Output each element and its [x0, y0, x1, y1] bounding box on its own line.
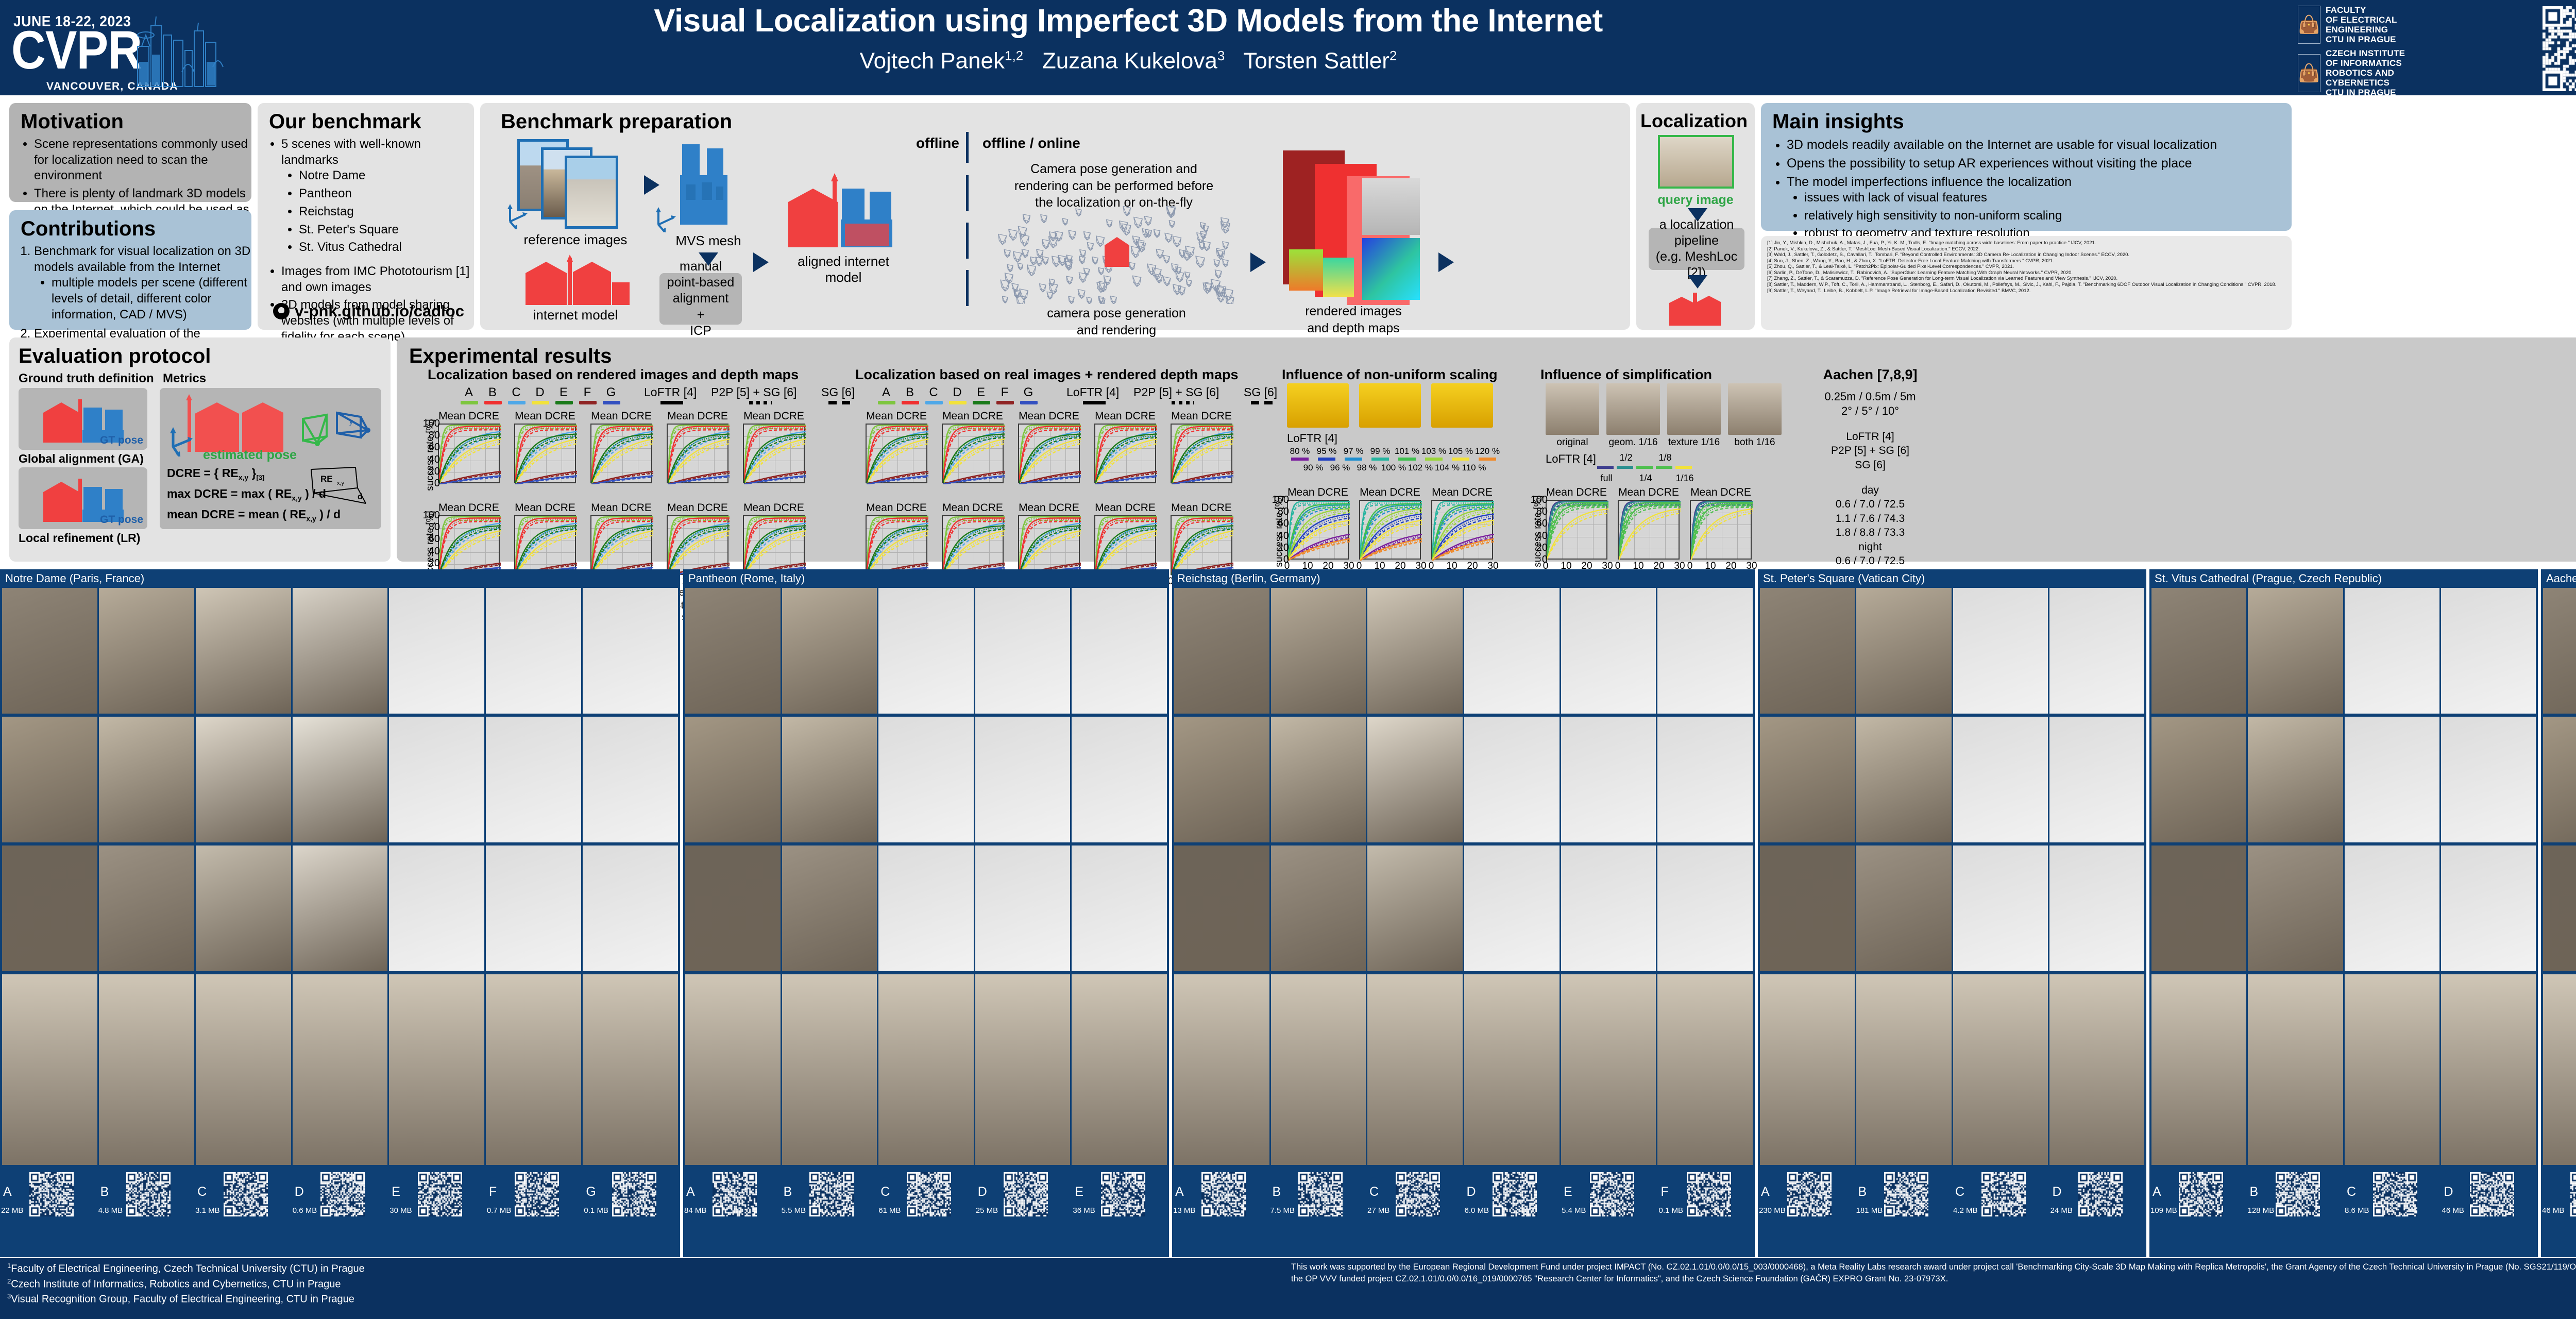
gallery-model-entry[interactable]: B181 MB	[1855, 1167, 1953, 1229]
gallery-photo	[2248, 974, 2343, 1165]
model-qr-code[interactable]	[1298, 1172, 1343, 1216]
offline-label: offline	[916, 135, 959, 151]
model-qr-code[interactable]	[907, 1172, 951, 1216]
scaling-legend-value: 101 %	[1394, 446, 1420, 456]
plot-area	[1171, 515, 1232, 575]
plot-curves	[1019, 516, 1081, 576]
model-qr-code[interactable]	[2276, 1172, 2320, 1216]
gallery-thumbnail	[1561, 717, 1656, 842]
plot-curves	[515, 516, 577, 576]
gallery-thumbnail	[1271, 717, 1366, 842]
list-item: Reichstag	[299, 204, 474, 220]
simplification-thumb	[1546, 383, 1599, 435]
gallery-thumbnail	[782, 717, 877, 842]
legend-matcher-swatch	[749, 401, 772, 404]
simplification-legend-value: full	[1595, 473, 1618, 484]
author-1: Vojtech Panek	[860, 48, 1005, 74]
insights-sublist: issues with lack of visual features rela…	[1804, 190, 2292, 242]
gallery-model-entry[interactable]: G0.1 MB	[583, 1167, 680, 1229]
plot-curves	[1019, 425, 1081, 484]
plot: Mean DCRE - LR	[743, 515, 805, 575]
simplification-thumb	[1728, 383, 1782, 435]
logo-fee-ctu: 👜 FACULTY OF ELECTRICAL ENGINEERING CTU …	[2298, 5, 2468, 44]
model-letter: A	[1175, 1185, 1184, 1199]
affiliations: 1Faculty of Electrical Engineering, Czec…	[7, 1261, 365, 1307]
gallery-model-legend: A84 MBB5.5 MBC61 MBD25 MBE36 MB	[683, 1167, 1169, 1229]
scaling-model-thumb	[1359, 383, 1421, 428]
list-item: Opens the possibility to setup AR experi…	[1787, 155, 2292, 172]
legend-swatch	[902, 401, 919, 404]
gallery-photo	[1760, 974, 1855, 1165]
conference-name: CVPR	[11, 26, 142, 76]
model-qr-code[interactable]	[1201, 1172, 1246, 1216]
model-qr-code[interactable]	[2179, 1172, 2223, 1216]
gallery-thumbnail	[1561, 845, 1656, 971]
list-item: The model imperfections influence the lo…	[1787, 174, 2292, 242]
alignment-process-box: manual point-based alignment + ICP	[659, 273, 742, 325]
gallery-row	[2151, 717, 2536, 842]
rendered-depth-thumb	[1362, 238, 1420, 300]
gallery-photo-row	[2543, 974, 2576, 1165]
gallery-model-entry[interactable]: B128 MB	[2247, 1167, 2344, 1229]
scaling-legend-swatch	[1345, 458, 1362, 461]
list-item: issues with lack of visual features	[1804, 190, 2292, 206]
plot-group-title: Influence of simplification	[1540, 367, 1777, 383]
aachen-methods: LoFTR [4]P2P [5] + SG [6]SG [6]	[1798, 430, 1942, 472]
gallery-thumbnail	[1174, 588, 1269, 714]
model-qr-code[interactable]	[2570, 1172, 2576, 1216]
scaling-model-thumb	[1287, 383, 1349, 428]
aligned-model-mesh	[783, 170, 902, 252]
gallery-thumbnail	[782, 845, 877, 971]
gallery-photo	[1464, 974, 1560, 1165]
model-letter: D	[2053, 1185, 2062, 1199]
y-axis-label: success rate [%]	[1533, 495, 1544, 567]
gallery-photo	[2, 974, 97, 1165]
gallery-photo	[2543, 974, 2576, 1165]
gallery-model-entry[interactable]: D46 MB	[2441, 1167, 2538, 1229]
model-letter: D	[295, 1185, 304, 1199]
model-letter: B	[100, 1185, 109, 1199]
model-letter: E	[1075, 1185, 1083, 1199]
svg-text:RE: RE	[320, 474, 333, 484]
scaling-legend-value: 120 %	[1475, 446, 1500, 456]
model-letter: B	[1858, 1185, 1867, 1199]
legend-swatch	[579, 401, 597, 404]
legend-matcher-label: SG [6]	[1244, 385, 1277, 399]
list-item: Pantheon	[299, 186, 474, 202]
model-size: 25 MB	[976, 1206, 998, 1215]
scaling-legend-value: 98 %	[1354, 463, 1380, 473]
gallery-thumbnail	[583, 588, 678, 714]
gallery-thumbnail	[2, 845, 97, 971]
formula-mean-dcre: mean DCRE = mean ( REx,y ) / d	[167, 508, 341, 523]
gallery-model-entry[interactable]: C3.1 MB	[194, 1167, 292, 1229]
plot-area	[1431, 500, 1493, 560]
gallery-thumbnail	[1367, 717, 1463, 842]
model-qr-code[interactable]	[612, 1172, 656, 1216]
institution-logos: 👜 FACULTY OF ELECTRICAL ENGINEERING CTU …	[2298, 5, 2468, 102]
model-size: 0.6 MB	[293, 1206, 317, 1215]
simplification-legend-swatch	[1656, 466, 1672, 469]
gallery-model-entry[interactable]: D0.6 MB	[292, 1167, 389, 1229]
camera-pose-cloud	[995, 206, 1238, 304]
gallery-photo	[583, 974, 678, 1165]
plot: Mean DCRE - GA	[866, 424, 927, 483]
plot: Mean DCRE - GA	[942, 424, 1004, 483]
coordinate-axes-icon-2	[650, 204, 679, 232]
legend-letter: F	[577, 385, 598, 400]
gallery-model-legend: 46 MB	[2541, 1167, 2576, 1229]
plot-curves	[1432, 501, 1494, 561]
list-item: St. Peter's Square	[299, 222, 474, 238]
gallery-model-legend: A22 MBB4.8 MBC3.1 MBD0.6 MBE30 MBF0.7 MB…	[0, 1167, 680, 1229]
legend-swatch	[925, 401, 943, 404]
gallery-thumbnail	[1367, 845, 1463, 971]
gallery-model-entry[interactable]: E5.4 MB	[1561, 1167, 1658, 1229]
gallery-thumbnail	[1856, 845, 1951, 971]
plot-area	[743, 515, 805, 575]
gallery-scene-title: St. Peter's Square (Vatican City)	[1758, 569, 2146, 587]
gallery-thumbnail	[1464, 717, 1560, 842]
gallery-model-entry[interactable]: 46 MB	[2541, 1167, 2576, 1229]
gallery-model-entry[interactable]: E36 MB	[1072, 1167, 1169, 1229]
logo-ciirc-text: CZECH INSTITUTE OF INFORMATICS ROBOTICS …	[2326, 48, 2405, 97]
model-qr-code[interactable]	[320, 1172, 365, 1216]
plot-curves	[943, 425, 1005, 484]
model-qr-code[interactable]	[1101, 1172, 1145, 1216]
affiliation-2: 2Czech Institute of Informatics, Robotic…	[7, 1277, 365, 1292]
plot-area	[1094, 424, 1156, 483]
model-size: 27 MB	[1367, 1206, 1389, 1215]
project-link[interactable]: v-pnk.github.io/cadloc	[273, 302, 464, 320]
scaling-legend-value: 105 %	[1448, 446, 1473, 456]
scaling-legend-value: 104 %	[1434, 463, 1460, 473]
scaling-legend-value: 95 %	[1314, 446, 1340, 456]
gallery-scene-title: Aachen (DE)	[2541, 569, 2576, 587]
arrow-right-icon-1	[644, 175, 659, 195]
poster-header: JUNE 18-22, 2023 CVPR VANCOUVER, CANADA	[0, 0, 2576, 95]
gallery-thumbnail	[2441, 717, 2536, 842]
gallery-thumbnail	[389, 845, 484, 971]
gallery-row	[1174, 588, 1753, 714]
simplification-legend-swatch	[1617, 466, 1633, 469]
query-image-label: query image	[1636, 193, 1755, 208]
contributions-panel: Contributions Benchmark for visual local…	[9, 210, 251, 330]
plot-curves	[1172, 425, 1233, 484]
gallery-model-entry[interactable]: C27 MB	[1366, 1167, 1464, 1229]
gallery-thumbnail	[2151, 845, 2246, 971]
affiliation-3: 3Visual Recognition Group, Faculty of El…	[7, 1292, 365, 1307]
gallery-model-entry[interactable]: A13 MB	[1172, 1167, 1269, 1229]
align-line-3: alignment	[673, 291, 728, 307]
depth-thumb-1	[1289, 249, 1323, 291]
plot: Mean DCRE - GA	[743, 424, 805, 483]
model-qr-code[interactable]	[126, 1172, 171, 1216]
align-line-4: +	[697, 307, 705, 323]
model-letter: C	[2347, 1185, 2356, 1199]
legend-swatch	[1020, 401, 1038, 404]
model-qr-code[interactable]	[1590, 1172, 1634, 1216]
reference-item: [3] Wald, J., Sattler, T., Golodetz, S.,…	[1767, 252, 2285, 258]
motivation-title: Motivation	[21, 110, 251, 133]
project-qr-code[interactable]	[2543, 6, 2576, 91]
model-qr-code[interactable]	[1787, 1172, 1832, 1216]
plot-curves	[439, 516, 501, 576]
model-qr-code[interactable]	[1884, 1172, 1928, 1216]
scaling-legend-swatch	[1371, 458, 1389, 461]
legend-matcher-swatch	[1083, 401, 1106, 404]
arrow-down-icon-3	[1688, 275, 1707, 289]
aligned-model-label: aligned internet model	[774, 253, 913, 285]
affiliation-1: 1Faculty of Electrical Engineering, Czec…	[7, 1261, 365, 1277]
poster-root: JUNE 18-22, 2023 CVPR VANCOUVER, CANADA	[0, 0, 2576, 1319]
gallery-thumbnail	[293, 717, 388, 842]
gallery-thumbnail	[975, 845, 1071, 971]
plot-area	[1287, 500, 1349, 560]
gallery-thumbnail	[389, 588, 484, 714]
metrics-subtitle: Metrics	[163, 371, 206, 386]
model-qr-code[interactable]	[515, 1172, 559, 1216]
coordinate-axes-icon-1	[502, 201, 530, 229]
plot: Mean DCRE - GA	[667, 424, 728, 483]
model-qr-code[interactable]	[2078, 1172, 2123, 1216]
pipeline-note: Camera pose generation and rendering can…	[985, 161, 1243, 211]
model-qr-code[interactable]	[224, 1172, 268, 1216]
internet-model-label: internet model	[511, 307, 640, 323]
model-size: 84 MB	[684, 1206, 706, 1215]
gallery-thumbnail	[2345, 588, 2439, 714]
reference-item: [9] Sattler, T., Weyand, T., Leibe, B., …	[1767, 288, 2285, 294]
simplification-legend-value: 1/4	[1634, 473, 1657, 484]
gallery-photo	[878, 974, 974, 1165]
gallery-thumbnail	[1953, 717, 2048, 842]
gallery-thumbnail	[1856, 588, 1951, 714]
gallery-thumbnail	[878, 845, 974, 971]
aachen-method: LoFTR [4]	[1798, 430, 1942, 444]
author-3-affil: 2	[1389, 48, 1397, 63]
authors-list: Vojtech Panek1,2 Zuzana Kukelova3 Torste…	[309, 48, 1947, 74]
plot-curves	[591, 425, 653, 484]
model-qr-code[interactable]	[418, 1172, 462, 1216]
model-size: 109 MB	[2150, 1206, 2177, 1215]
model-qr-code[interactable]	[2470, 1172, 2514, 1216]
plot-area	[514, 424, 576, 483]
plots-container: Localization based on rendered images an…	[397, 337, 2576, 562]
model-qr-code[interactable]	[2373, 1172, 2417, 1216]
plot: Mean DCRE - LR	[514, 515, 576, 575]
gallery-model-entry[interactable]: F0.1 MB	[1658, 1167, 1755, 1229]
gallery-row	[2, 588, 678, 714]
gallery-photo-row	[1174, 974, 1753, 1165]
title-block: Visual Localization using Imperfect 3D M…	[309, 4, 1947, 74]
gallery-model-entry[interactable]: A109 MB	[2149, 1167, 2247, 1229]
plot-area	[866, 424, 927, 483]
plot: Mean DCRE - LR	[942, 515, 1004, 575]
rendered-rgb-thumb	[1362, 178, 1420, 235]
model-letter: C	[197, 1185, 207, 1199]
gallery-photo	[685, 974, 781, 1165]
reference-item: [1] Jin, Y., Mishkin, D., Mishchuk, A., …	[1767, 240, 2285, 246]
plot-area	[1546, 500, 1607, 560]
simplification-legend-value: 1/16	[1673, 473, 1696, 484]
gallery-model-entry[interactable]: C4.2 MB	[1952, 1167, 2049, 1229]
plot-curves	[1619, 501, 1681, 561]
local-refinement-label: Local refinement (LR)	[19, 531, 140, 545]
gallery-thumbnail	[99, 717, 194, 842]
scaling-legend-swatch	[1291, 458, 1309, 461]
gallery-thumbnail	[1367, 588, 1463, 714]
gallery-row	[2543, 717, 2576, 842]
model-qr-code[interactable]	[1004, 1172, 1048, 1216]
depth-thumb-2	[1323, 258, 1354, 297]
plot-curves	[1172, 516, 1233, 576]
gallery-model-entry[interactable]: A22 MB	[0, 1167, 97, 1229]
plot-group-title: Localization based on rendered images an…	[428, 367, 891, 383]
gallery-thumbnail	[1072, 845, 1167, 971]
gallery-thumbnail	[2248, 717, 2343, 842]
gallery-thumbnail	[1760, 845, 1855, 971]
motivation-panel: Motivation Scene representations commonl…	[9, 103, 251, 202]
plot: Mean DCRE - GA	[514, 424, 576, 483]
svg-text:y: y	[349, 417, 353, 426]
model-letter: A	[3, 1185, 12, 1199]
gallery-photo	[1561, 974, 1656, 1165]
model-size: 46 MB	[2542, 1206, 2564, 1215]
gallery-thumbnail	[2543, 717, 2576, 842]
gallery-photo-row	[2151, 974, 2536, 1165]
gallery-scene-title: Pantheon (Rome, Italy)	[683, 569, 1169, 587]
gallery-model-entry[interactable]: D6.0 MB	[1464, 1167, 1561, 1229]
model-qr-code[interactable]	[1396, 1172, 1440, 1216]
formula-max-dcre: max DCRE = max ( REx,y ) / d	[167, 487, 326, 502]
legend-letter: E	[971, 385, 991, 400]
plot-curves	[668, 516, 730, 576]
gallery-panel: St. Vitus Cathedral (Prague, Czech Repub…	[2149, 569, 2538, 1257]
model-size: 181 MB	[1856, 1206, 1883, 1215]
stage-divider-2	[966, 175, 969, 211]
main-insights-title: Main insights	[1772, 110, 2292, 133]
model-qr-code[interactable]	[809, 1172, 854, 1216]
legend-swatch	[996, 401, 1014, 404]
gallery-photo	[293, 974, 388, 1165]
gallery-model-entry[interactable]: C61 MB	[877, 1167, 975, 1229]
coordinate-axes-icon-3	[163, 424, 197, 458]
gallery-model-entry[interactable]: B7.5 MB	[1269, 1167, 1367, 1229]
simplification-thumb-label: both 1/16	[1724, 437, 1786, 448]
legend-letter: E	[553, 385, 574, 400]
plot: Mean DCRE - GA	[438, 424, 500, 483]
plot-area	[1359, 500, 1421, 560]
model-qr-code[interactable]	[29, 1172, 74, 1216]
insights-list: 3D models readily available on the Inter…	[1787, 137, 2292, 242]
gallery-model-entry[interactable]: A230 MB	[1758, 1167, 1855, 1229]
list-item: Scene representations commonly used for …	[34, 137, 251, 184]
gallery-thumbnail	[2441, 588, 2536, 714]
scaling-legend-swatch	[1398, 458, 1416, 461]
our-benchmark-title: Our benchmark	[269, 110, 474, 133]
legend-letter: C	[506, 385, 527, 400]
plot: Mean DCRE - GA	[1018, 424, 1080, 483]
model-letter: C	[880, 1185, 890, 1199]
gallery-thumbnail	[975, 588, 1071, 714]
aachen-method: P2P [5] + SG [6]	[1798, 444, 1942, 458]
plot-area	[667, 515, 728, 575]
offline-online-label: offline / online	[982, 135, 1080, 151]
global-alignment-box: GT pose	[19, 388, 147, 450]
gallery-photo	[2151, 974, 2246, 1165]
gallery-thumbnail	[486, 717, 581, 842]
gallery-model-entry[interactable]: D25 MB	[975, 1167, 1072, 1229]
stage-divider-4	[966, 270, 969, 306]
model-letter: E	[392, 1185, 400, 1199]
gallery-thumbnail	[1953, 845, 2048, 971]
plot-curves	[1547, 501, 1608, 561]
scaling-legend-value: 100 %	[1381, 463, 1406, 473]
gallery-model-entry[interactable]: C8.6 MB	[2344, 1167, 2441, 1229]
gallery-photo	[486, 974, 581, 1165]
model-qr-code[interactable]	[1493, 1172, 1537, 1216]
logo-ciirc-ctu: 👜 CZECH INSTITUTE OF INFORMATICS ROBOTIC…	[2298, 48, 2468, 97]
gallery-model-entry[interactable]: B4.8 MB	[97, 1167, 195, 1229]
gallery-model-entry[interactable]: E30 MB	[388, 1167, 486, 1229]
legend-letter: B	[900, 385, 920, 400]
legend-swatch	[532, 401, 549, 404]
gallery-row	[2543, 845, 2576, 971]
gallery-thumbnail	[1657, 588, 1753, 714]
simplification-thumb	[1606, 383, 1660, 435]
model-size: 0.1 MB	[584, 1206, 608, 1215]
gallery-row	[2, 717, 678, 842]
benchmark-preparation-panel: Benchmark preparation reference images i…	[480, 103, 1630, 330]
gallery-scene-title: St. Vitus Cathedral (Prague, Czech Repub…	[2149, 569, 2538, 587]
gallery-thumbnail	[1174, 717, 1269, 842]
scaling-legend-swatch	[1318, 458, 1335, 461]
gallery-model-entry[interactable]: D24 MB	[2049, 1167, 2147, 1229]
gallery-model-entry[interactable]: F0.7 MB	[486, 1167, 583, 1229]
localization-pipeline-box: a localization pipeline (e.g. MeshLoc [2…	[1649, 228, 1744, 270]
reference-item: [5] Zhou, Q., Sattler, T., & Leal-Taixé,…	[1767, 264, 2285, 270]
our-benchmark-panel: Our benchmark 5 scenes with well-known l…	[258, 103, 474, 330]
gallery-photo	[2345, 974, 2439, 1165]
plot: Mean DCRE - LR	[667, 515, 728, 575]
gallery-thumbnail	[1072, 588, 1167, 714]
plot-curves	[439, 425, 501, 484]
reference-item: [7] Zhang, Z., Sattler, T., & Scaramuzza…	[1767, 276, 2285, 282]
model-qr-code[interactable]	[713, 1172, 757, 1216]
gallery-photo	[1271, 974, 1366, 1165]
model-letter: C	[1955, 1185, 1964, 1199]
plot-curves	[1095, 516, 1157, 576]
simplification-thumb-label: geom. 1/16	[1602, 437, 1664, 448]
plot: Mean DCRE - GA	[1359, 500, 1421, 560]
plot-curves	[1360, 501, 1422, 561]
stage-divider-3	[966, 223, 969, 259]
gallery-model-entry[interactable]: A84 MB	[683, 1167, 781, 1229]
logo-fee-text: FACULTY OF ELECTRICAL ENGINEERING CTU IN…	[2326, 5, 2397, 44]
gallery-thumbnail	[1271, 845, 1366, 971]
gallery-thumbnail	[878, 717, 974, 842]
model-qr-code[interactable]	[1981, 1172, 2026, 1216]
simplification-thumb	[1667, 383, 1721, 435]
gallery-thumbnail	[1657, 717, 1753, 842]
model-qr-code[interactable]	[1687, 1172, 1731, 1216]
aachen-method: SG [6]	[1798, 458, 1942, 472]
gallery-model-entry[interactable]: B5.5 MB	[781, 1167, 878, 1229]
stage-divider-1	[966, 132, 969, 163]
mvs-mesh	[675, 140, 737, 232]
arrow-right-icon-2	[753, 252, 769, 272]
